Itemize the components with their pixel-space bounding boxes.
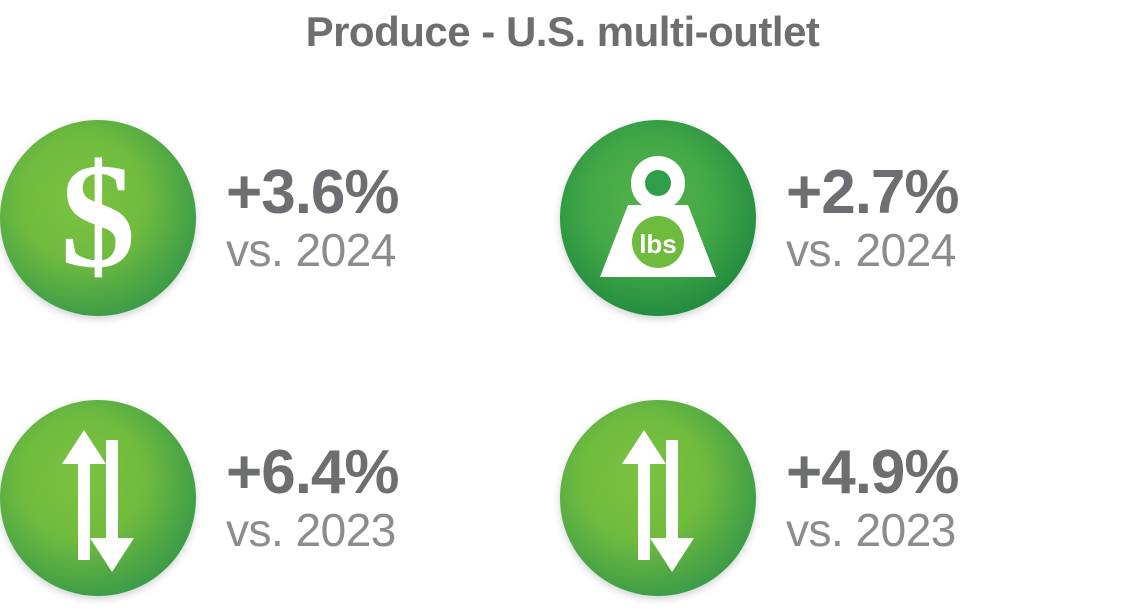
updown-badge-left: [0, 400, 196, 596]
metric-value: +4.9%: [786, 440, 959, 505]
metric-card-volume-2024: lbs +2.7% vs. 2024: [560, 120, 959, 316]
dollar-sign-icon: $: [0, 120, 196, 316]
metric-caption: vs. 2023: [786, 505, 959, 556]
metric-card-volume-2023: +4.9% vs. 2023: [560, 400, 959, 596]
weight-badge-text: lbs: [639, 229, 677, 259]
page-title: Produce - U.S. multi-outlet: [0, 8, 1125, 56]
metric-text-group: +6.4% vs. 2023: [226, 440, 399, 556]
metric-text-group: +2.7% vs. 2024: [786, 160, 959, 276]
updown-badge-right: [560, 400, 756, 596]
metric-text-group: +3.6% vs. 2024: [226, 160, 399, 276]
weight-lbs-icon: lbs: [560, 120, 756, 316]
weight-badge: lbs: [560, 120, 756, 316]
up-down-arrows-icon: [0, 400, 196, 596]
dollar-sign-badge: $: [0, 120, 196, 316]
metric-caption: vs. 2024: [226, 225, 399, 276]
metric-card-dollar-sales-2024: $ +3.6% vs. 2024: [0, 120, 399, 316]
svg-text:$: $: [61, 133, 136, 299]
metric-caption: vs. 2024: [786, 225, 959, 276]
up-down-arrows-icon: [560, 400, 756, 596]
metric-value: +2.7%: [786, 160, 959, 225]
metric-text-group: +4.9% vs. 2023: [786, 440, 959, 556]
metrics-grid: $ +3.6% vs. 2024 lbs +2.7% vs. 2024: [0, 110, 1125, 610]
metric-card-dollar-sales-2023: +6.4% vs. 2023: [0, 400, 399, 596]
metric-value: +6.4%: [226, 440, 399, 505]
metric-caption: vs. 2023: [226, 505, 399, 556]
metric-value: +3.6%: [226, 160, 399, 225]
